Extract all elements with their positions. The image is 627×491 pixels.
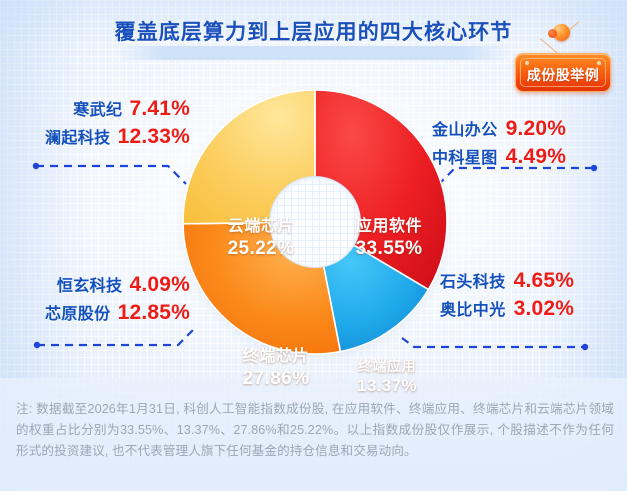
- callout-bottom-left: 恒玄科技 4.09% 芯原股份 12.85%: [8, 272, 190, 328]
- stock-weight: 9.20%: [506, 116, 567, 142]
- stock-name: 奥比中光: [440, 298, 506, 324]
- slice-name: 云端芯片: [202, 217, 320, 237]
- stock-weight: 7.41%: [129, 96, 190, 122]
- slice-value: 27.86%: [217, 367, 335, 391]
- callout-top-left: 寒武纪 7.41% 澜起科技 12.33%: [8, 96, 190, 152]
- stock-weight: 12.85%: [118, 300, 190, 326]
- callout-row: 奥比中光 3.02%: [440, 296, 620, 324]
- stock-weight: 4.49%: [506, 144, 567, 170]
- callout-row: 中科星图 4.49%: [432, 144, 618, 172]
- callout-row: 石头科技 4.65%: [440, 268, 620, 296]
- slice-value: 13.37%: [337, 375, 437, 396]
- slice-label-cloud-chip: 云端芯片 25.22%: [202, 217, 320, 261]
- callout-bottom-right: 石头科技 4.65% 奥比中光 3.02%: [440, 268, 620, 324]
- callout-row: 寒武纪 7.41%: [8, 96, 190, 124]
- callout-row: 金山办公 9.20%: [432, 116, 618, 144]
- callout-row: 芯原股份 12.85%: [8, 300, 190, 328]
- stock-weight: 4.09%: [129, 272, 190, 298]
- footnote-text: 注: 数据截至2026年1月31日, 科创人工智能指数成份股, 在应用软件、终端…: [16, 399, 614, 462]
- slice-name: 终端应用: [337, 357, 437, 375]
- stock-weight: 12.33%: [118, 124, 190, 150]
- connector-bottom-left: [34, 327, 196, 348]
- donut-chart: 应用软件 33.55% 终端应用 13.37% 终端芯片 27.86% 云端芯片…: [182, 89, 448, 355]
- slice-value: 25.22%: [202, 237, 320, 261]
- stock-name: 恒玄科技: [57, 274, 123, 300]
- stock-name: 澜起科技: [45, 126, 111, 152]
- callout-row: 恒玄科技 4.09%: [8, 272, 190, 300]
- connector-top-left: [33, 163, 186, 184]
- stock-name: 金山办公: [432, 118, 498, 144]
- stock-weight: 3.02%: [514, 296, 575, 322]
- infographic-canvas: 覆盖底层算力到上层应用的四大核心环节 成份股举例: [0, 0, 627, 491]
- stock-name: 寒武纪: [73, 98, 122, 124]
- stock-weight: 4.65%: [514, 268, 575, 294]
- callout-row: 澜起科技 12.33%: [8, 124, 190, 152]
- slice-label-terminal-chip: 终端芯片 27.86%: [217, 347, 335, 391]
- slice-label-terminal-app: 终端应用 13.37%: [337, 357, 437, 396]
- callout-top-right: 金山办公 9.20% 中科星图 4.49%: [432, 116, 618, 172]
- slice-name: 终端芯片: [217, 347, 335, 367]
- slice-label-app-software: 应用软件 33.55%: [330, 217, 448, 261]
- slice-value: 33.55%: [330, 237, 448, 261]
- stock-name: 芯原股份: [45, 302, 111, 328]
- stock-name: 中科星图: [432, 146, 498, 172]
- slice-name: 应用软件: [330, 217, 448, 237]
- stock-name: 石头科技: [440, 270, 506, 296]
